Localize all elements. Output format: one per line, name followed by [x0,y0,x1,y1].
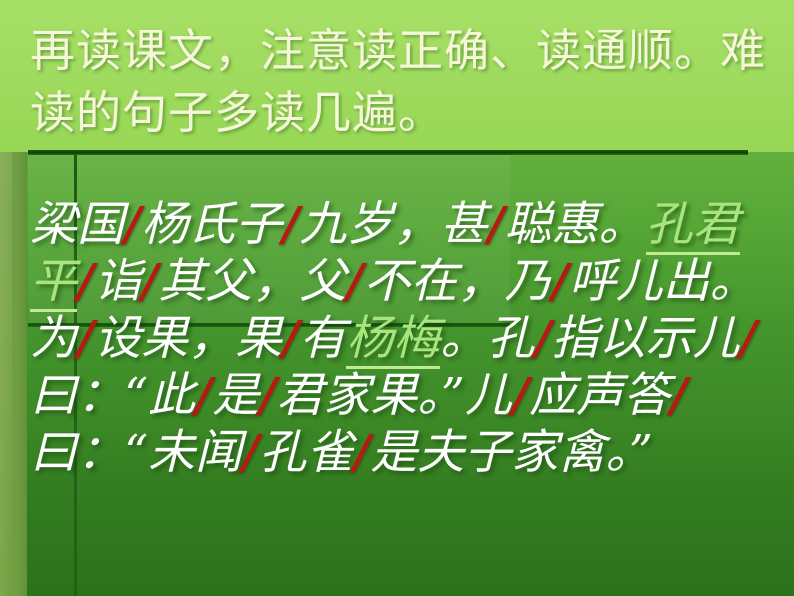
pause-slash-mark: / [282,197,299,252]
slide-left-strip-highlight [0,152,12,596]
body-text-run: 君家果。”儿 [276,368,512,423]
pause-slash-mark: / [77,311,94,366]
body-text-run: 指以示儿 [552,311,740,366]
pause-slash-mark: / [740,311,757,366]
body-text-run: 应声答 [529,368,670,423]
pause-slash-mark: / [670,368,687,423]
pause-slash-mark: / [346,254,363,309]
body-text-run: 不在，乃 [364,254,552,309]
slide-title: 再读课文，注意读正确、读通顺。难读的句子多读几遍。 [30,20,770,144]
pause-slash-mark: / [141,254,158,309]
body-text-run: 曰：“未闻 [30,425,242,480]
slide-body-text: 梁国/杨氏子/九岁，甚/聪惠。孔君平/诣/其父，父/不在，乃/呼儿出。为/设果，… [30,196,782,481]
body-text-run: 诣 [94,254,141,309]
body-text-run: 孔雀 [259,425,353,480]
body-text-run: 设果，果 [94,311,282,366]
body-text-run: 聪惠。 [505,197,646,252]
pause-slash-mark: / [353,425,370,480]
pause-slash-mark: / [282,311,299,366]
pause-slash-mark: / [77,254,94,309]
pause-slash-mark: / [512,368,529,423]
body-text-run: 。孔 [440,311,534,366]
body-text-run: 曰：“此 [30,368,195,423]
body-text-run: 杨氏子 [141,197,282,252]
pause-slash-mark: / [487,197,504,252]
body-text-run: 九岁，甚 [299,197,487,252]
pause-slash-mark: / [242,425,259,480]
highlighted-term: 杨梅 [346,311,440,369]
pause-slash-mark: / [259,368,276,423]
pause-slash-mark: / [124,197,141,252]
body-text-run: 梁国 [30,197,124,252]
pause-slash-mark: / [534,311,551,366]
body-text-run: 是 [212,368,259,423]
body-text-run: 是夫子家禽。” [370,425,653,480]
pause-slash-mark: / [195,368,212,423]
body-text-run: 有 [299,311,346,366]
pause-slash-mark: / [552,254,569,309]
presentation-slide: 再读课文，注意读正确、读通顺。难读的句子多读几遍。 梁国/杨氏子/九岁，甚/聪惠… [0,0,794,596]
body-text-run: 其父，父 [158,254,346,309]
slide-horizontal-rule-top [28,150,748,155]
